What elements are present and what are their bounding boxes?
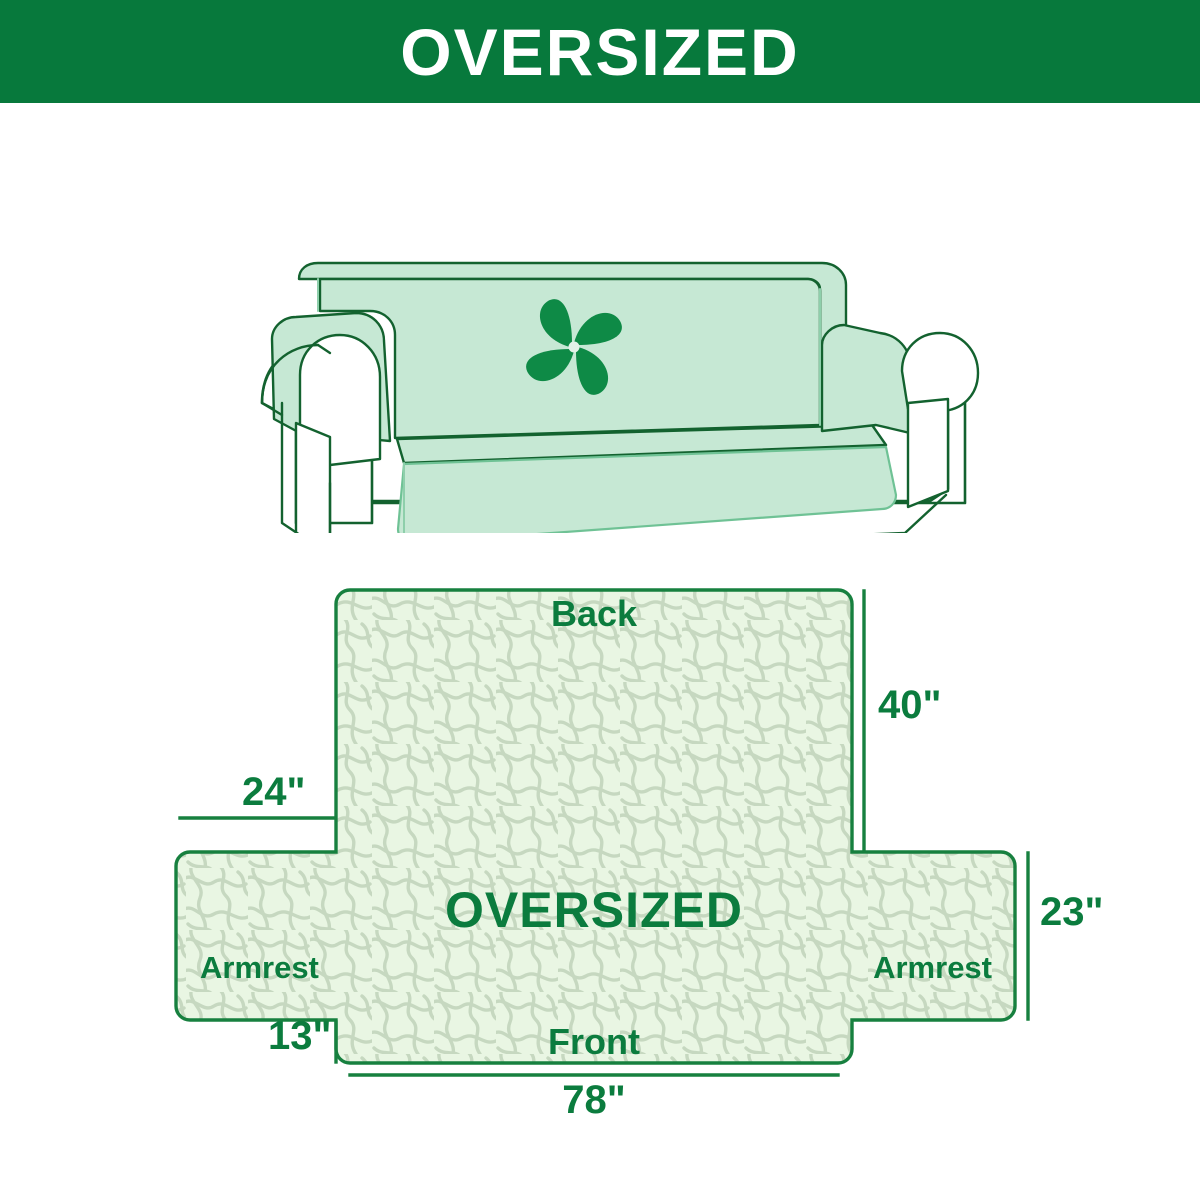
dimension-value-back-inset: 24" xyxy=(242,770,305,814)
dimension-value-back-height: 40" xyxy=(878,683,941,727)
dimension-value-armrest-height: 23" xyxy=(1040,890,1103,934)
page-title: OVERSIZED xyxy=(400,19,799,85)
dimension-value-front-inset: 13" xyxy=(268,1014,331,1058)
sofa-illustration-svg xyxy=(0,103,1200,533)
diagram-center-label: OVERSIZED xyxy=(445,882,743,938)
slipcover-dimension-diagram: Back Front Armrest Armrest OVERSIZED 40"… xyxy=(0,533,1200,1200)
region-label-front: Front xyxy=(548,1021,640,1062)
region-label-armrest-left: Armrest xyxy=(200,950,319,985)
region-label-back: Back xyxy=(551,593,638,634)
product-size-chart-page: OVERSIZED xyxy=(0,0,1200,1200)
sofa-illustration xyxy=(0,103,1200,533)
dimension-value-total-width: 78" xyxy=(562,1078,625,1122)
dimension-diagram-svg: Back Front Armrest Armrest OVERSIZED 40"… xyxy=(0,533,1200,1200)
header-banner: OVERSIZED xyxy=(0,0,1200,103)
region-label-armrest-right: Armrest xyxy=(873,950,992,985)
